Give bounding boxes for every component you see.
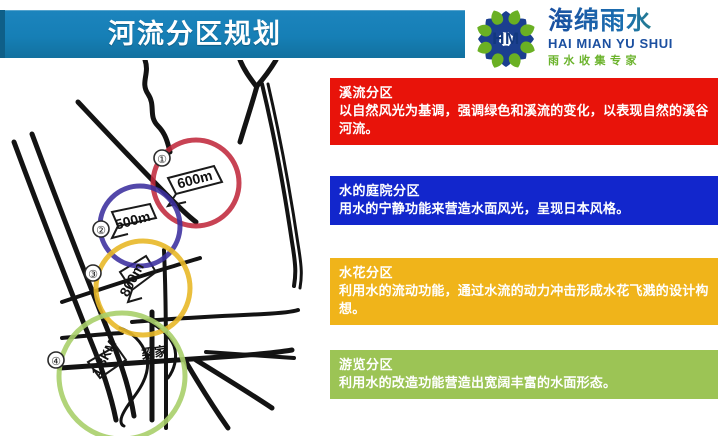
zone-panel-1-title: 溪流分区 <box>339 84 709 101</box>
zone-3-distance-label: 800m <box>116 260 147 299</box>
brand-logo: HM 海绵雨水 HAI MIAN YU SHUI 雨水收集专家 <box>470 3 718 75</box>
zone-panel-4-title: 游览分区 <box>339 356 709 373</box>
logo-droplet-icon: HM <box>470 5 542 73</box>
site-plan-diagram: ① ② ③ ④ 600m 500m 800m <box>0 60 330 436</box>
zone-panel-3-title: 水花分区 <box>339 264 709 281</box>
logo-wordmark: 海绵雨水 HAI MIAN YU SHUI 雨水收集专家 <box>548 7 718 68</box>
logo-brand-pinyin: HAI MIAN YU SHUI <box>548 36 718 52</box>
title-banner: 河流分区规划 <box>0 10 465 58</box>
zone-panel-sightseeing: 游览分区 利用水的改造功能营造出宽阔丰富的水面形态。 <box>330 350 718 399</box>
zone-panel-3-body: 利用水的流动功能，通过水流的动力冲击形成水花飞溅的设计构想。 <box>339 282 709 318</box>
zone-index-4: ④ <box>48 352 64 368</box>
zone-index-1: ① <box>154 150 170 166</box>
zone-3-number: ③ <box>88 269 98 281</box>
zone-2-distance-label: 500m <box>113 208 152 233</box>
zone-panel-water-splash: 水花分区 利用水的流动功能，通过水流的动力冲击形成水花飞溅的设计构想。 <box>330 258 718 325</box>
logo-brand-tagline: 雨水收集专家 <box>548 54 718 68</box>
slide-canvas: 河流分区规划 <box>0 0 720 436</box>
zone-1-distance-label: 600m <box>175 167 214 192</box>
zone-panel-2-title: 水的庭院分区 <box>339 182 709 199</box>
zone-index-2: ② <box>93 221 109 237</box>
zone-index-3: ③ <box>85 265 101 281</box>
zone-1-number: ① <box>157 154 167 166</box>
zone-4-number: ④ <box>51 356 61 368</box>
zone-panel-4-body: 利用水的改造功能营造出宽阔丰富的水面形态。 <box>339 374 709 392</box>
zone-panel-1-body: 以自然风光为基调，强调绿色和溪流的变化，以表现自然的溪谷河流。 <box>339 102 709 138</box>
zone-panel-water-garden: 水的庭院分区 用水的宁静功能来营造水面风光，呈现日本风格。 <box>330 176 718 225</box>
page-title: 河流分区规划 <box>108 18 282 50</box>
logo-brand-cn: 海绵雨水 <box>548 7 718 35</box>
zone-panel-stream: 溪流分区 以自然风光为基调，强调绿色和溪流的变化，以表现自然的溪谷河流。 <box>330 78 718 145</box>
zone-2-number: ② <box>96 225 106 237</box>
logo-monogram: HM <box>470 5 542 73</box>
zone-panel-2-body: 用水的宁静功能来营造水面风光，呈现日本风格。 <box>339 200 709 218</box>
